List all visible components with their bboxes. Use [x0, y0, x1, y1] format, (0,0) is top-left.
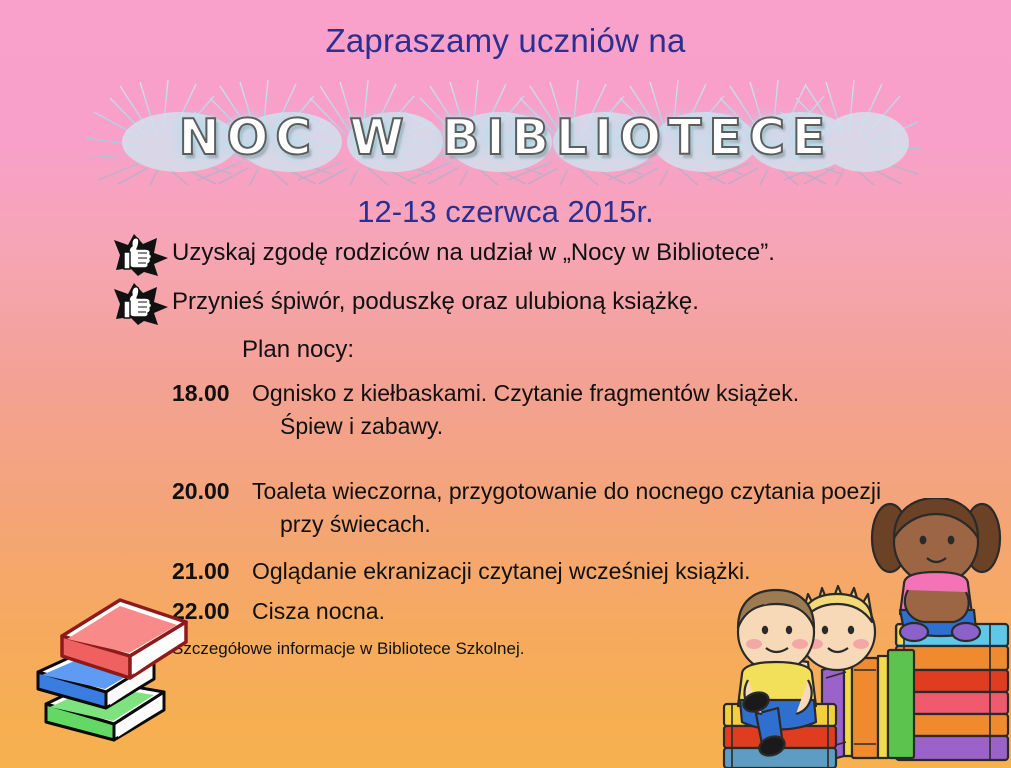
children-on-books-icon	[718, 498, 1011, 768]
requirement-item: Przynieś śpiwór, poduszkę oraz ulubioną …	[112, 285, 699, 325]
schedule-time: 20.00	[172, 475, 252, 508]
schedule-description: Oglądanie ekranizacji czytanej wcześniej…	[252, 555, 751, 588]
thumbs-up-star-icon	[112, 234, 170, 276]
schedule-description: Ognisko z kiełbaskami. Czytanie fragment…	[252, 377, 799, 443]
plan-label: Plan nocy:	[242, 336, 354, 364]
event-date: 12-13 czerwca 2015r.	[0, 194, 1011, 230]
schedule-description-cont: Śpiew i zabawy.	[252, 410, 799, 443]
poster-canvas: Zapraszamy uczniów na	[0, 0, 1011, 768]
thumbs-up-star-icon	[112, 283, 170, 325]
requirement-text: Uzyskaj zgodę rodziców na udział w „Nocy…	[172, 236, 775, 270]
schedule-description-line: Oglądanie ekranizacji czytanej wcześniej…	[252, 558, 751, 584]
requirement-item: Uzyskaj zgodę rodziców na udział w „Nocy…	[112, 236, 775, 276]
stacked-books-icon	[34, 594, 214, 764]
schedule-time: 21.00	[172, 555, 252, 588]
invite-line: Zapraszamy uczniów na	[0, 22, 1011, 60]
footer-note: Szczegółowe informacje w Bibliotece Szko…	[172, 639, 524, 659]
requirement-text: Przynieś śpiwór, poduszkę oraz ulubioną …	[172, 285, 699, 319]
schedule-description-line: Cisza nocna.	[252, 598, 385, 624]
schedule-description: Cisza nocna.	[252, 595, 385, 628]
schedule-time: 18.00	[172, 377, 252, 410]
schedule-row: 18.00 Ognisko z kiełbaskami. Czytanie fr…	[172, 377, 1002, 443]
wordart-title-text: Noc w Bibliotece	[0, 80, 1011, 180]
wordart-title: Noc w Bibliotece	[0, 80, 1011, 185]
schedule-description-line: Ognisko z kiełbaskami. Czytanie fragment…	[252, 380, 799, 406]
